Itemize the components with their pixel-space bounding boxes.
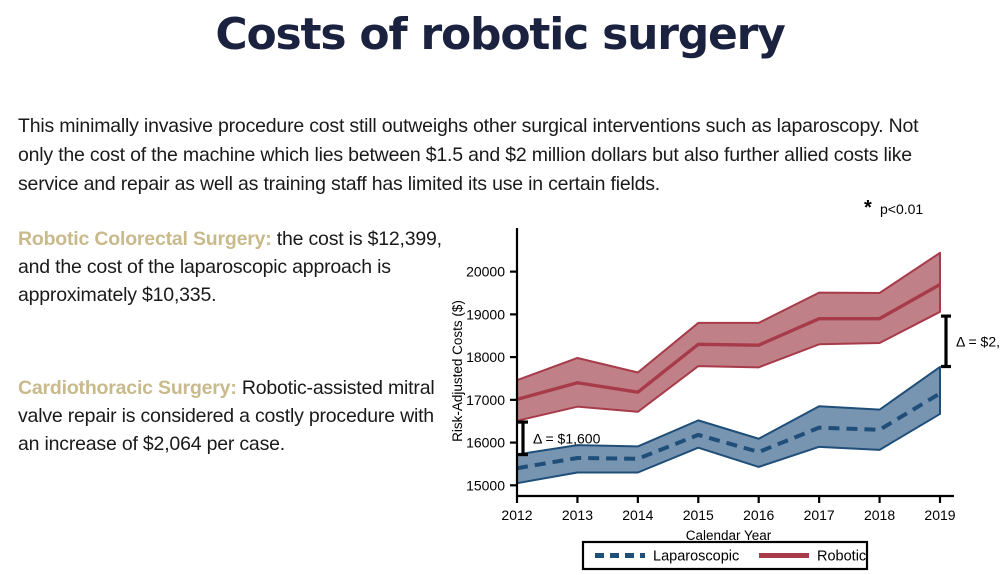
chart-svg: 1500016000170001800019000200002012201320… [440,198,1000,575]
x-axis-title: Calendar Year [686,528,772,543]
y-axis-title: Risk-Adjusted Costs ($) [450,300,465,442]
ytick-label: 15000 [466,477,505,493]
delta-label-2012: Δ = $1,600 [533,430,601,446]
xtick-label: 2012 [501,507,532,523]
xtick-label: 2013 [562,507,593,523]
cost-trend-chart: 1500016000170001800019000200002012201320… [440,198,1000,575]
info-block-cardiothoracic: Cardiothoracic Surgery: Robotic-assisted… [18,374,443,458]
xtick-label: 2015 [683,507,714,523]
legend-label-robotic[interactable]: Robotic [817,549,866,565]
legend-label-laparoscopic[interactable]: Laparoscopic [653,549,739,565]
info-block-lead-colorectal: Robotic Colorectal Surgery: [18,228,272,250]
significance-label: p<0.01 [880,201,923,217]
significance-star: * [864,198,872,219]
xtick-label: 2019 [924,507,955,523]
xtick-label: 2017 [804,507,835,523]
intro-paragraph: This minimally invasive procedure cost s… [18,112,958,199]
xtick-label: 2014 [622,507,653,523]
delta-label-2019: Δ = $2,600 [956,333,1000,349]
xtick-label: 2016 [743,507,774,523]
info-block-lead-cardiothoracic: Cardiothoracic Surgery: [18,377,237,399]
ytick-label: 16000 [466,435,505,451]
ytick-label: 17000 [466,392,505,408]
info-block-robotic-colorectal: Robotic Colorectal Surgery: the cost is … [18,225,443,309]
xtick-label: 2018 [864,507,895,523]
confidence-bands [517,253,940,483]
ytick-label: 18000 [466,349,505,365]
ytick-label: 19000 [466,306,505,322]
page-title: Costs of robotic surgery [0,12,1000,58]
chart-legend[interactable]: LaparoscopicRobotic [583,542,867,569]
ytick-label: 20000 [466,264,505,280]
band-robotic [517,253,940,421]
